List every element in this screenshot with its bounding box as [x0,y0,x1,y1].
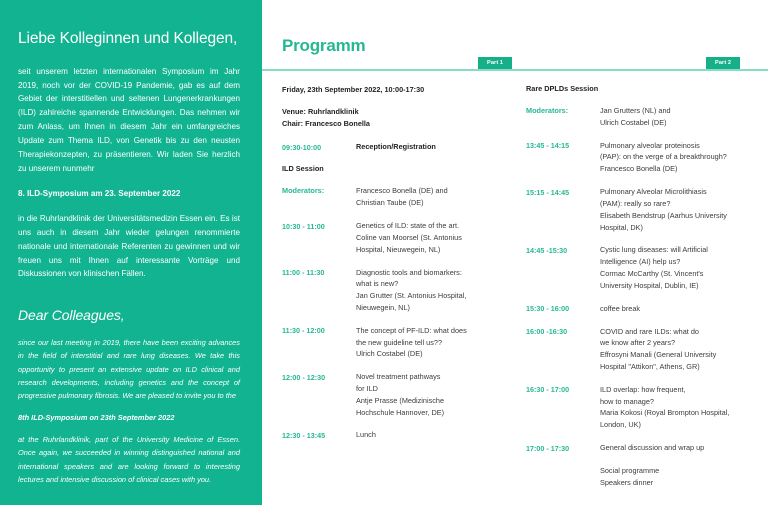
schedule-row: 10:30 - 11:00Genetics of ILD: state of t… [282,220,508,255]
moderators-row-part1: Moderators: Francesco Bonella (DE) and C… [282,185,508,209]
row-time [526,465,600,489]
session-title-ild: ILD Session [282,164,508,173]
row-description: COVID and rare ILDs: what do we know aft… [600,326,756,373]
event-date: Friday, 23th September 2022, 10:00-17:30 [282,84,508,96]
schedule-row: 12:30 - 13:45Lunch [282,429,508,441]
moderators-label: Moderators: [526,105,600,129]
schedule-list-part1: 10:30 - 11:00Genetics of ILD: state of t… [282,220,508,441]
schedule-row: 11:30 - 12:00The concept of PF-ILD: what… [282,325,508,360]
schedule-row: 13:45 - 14:15Pulmonary alveolar proteino… [526,140,756,175]
row-time: 16:00 -16:30 [526,326,600,373]
row-time: 10:30 - 11:00 [282,220,356,255]
row-description: Diagnostic tools and biomarkers: what is… [356,267,508,314]
paragraph-english-1: since our last meeting in 2019, there ha… [18,336,240,402]
invitation-panel: Liebe Kolleginnen und Kollegen, seit uns… [0,0,262,505]
page-title: Programm [282,36,365,56]
moderators-row-part2: Moderators: Jan Grutters (NL) and Ulrich… [526,105,756,129]
schedule-row: Social programme Speakers dinner [526,465,756,489]
moderators-value: Jan Grutters (NL) and Ulrich Costabel (D… [600,105,756,129]
row-time: 11:30 - 12:00 [282,325,356,360]
row-time: 14:45 -15:30 [526,244,600,291]
schedule-row: 16:30 - 17:00ILD overlap: how frequent, … [526,384,756,431]
title-divider [262,69,768,71]
schedule-row: 12:00 - 12:30Novel treatment pathways fo… [282,371,508,418]
schedule-row: 16:00 -16:30COVID and rare ILDs: what do… [526,326,756,373]
badge-part-2: Part 2 [706,57,740,69]
poster-page: Liebe Kolleginnen und Kollegen, seit uns… [0,0,768,505]
paragraph-german-2: in die Ruhrlandklinik der Universitätsme… [18,212,240,282]
program-columns: Friday, 23th September 2022, 10:00-17:30… [262,84,768,500]
row-time: 16:30 - 17:00 [526,384,600,431]
row-description: coffee break [600,303,756,315]
schedule-list-part2: 13:45 - 14:15Pulmonary alveolar proteino… [526,140,756,489]
greeting-english: Dear Colleagues, [18,307,240,323]
symposium-title-english: 8th ILD-Symposium on 23th September 2022 [18,413,240,422]
moderators-value: Francesco Bonella (DE) and Christian Tau… [356,185,508,209]
row-description: ILD overlap: how frequent, how to manage… [600,384,756,431]
row-time: 09:30-10:00 [282,141,356,153]
row-time: 17:00 - 17:30 [526,442,600,454]
program-column-part1: Friday, 23th September 2022, 10:00-17:30… [262,84,520,500]
schedule-row: 15:30 - 16:00coffee break [526,303,756,315]
moderators-label: Moderators: [282,185,356,209]
event-venue-chair: Venue: Ruhrlandklinik Chair: Francesco B… [282,106,508,130]
schedule-row: 14:45 -15:30Cystic lung diseases: will A… [526,244,756,291]
badge-part-1: Part 1 [478,57,512,69]
row-time: 11:00 - 11:30 [282,267,356,314]
row-description: Social programme Speakers dinner [600,465,756,489]
session-title-rare-dplds: Rare DPLDs Session [526,84,756,93]
program-panel: Programm Part 1 Part 2 Friday, 23th Sept… [262,0,768,505]
row-time: 13:45 - 14:15 [526,140,600,175]
schedule-row: 11:00 - 11:30Diagnostic tools and biomar… [282,267,508,314]
row-description: Genetics of ILD: state of the art. Colin… [356,220,508,255]
venue-line: Venue: Ruhrlandklinik [282,107,359,116]
row-description: Novel treatment pathways for ILD Antje P… [356,371,508,418]
symposium-title-german: 8. ILD-Symposium am 23. September 2022 [18,188,240,201]
row-time: 12:30 - 13:45 [282,429,356,441]
row-description: General discussion and wrap up [600,442,756,454]
paragraph-german-1: seit unserem letzten internationalen Sym… [18,65,240,176]
row-time: 15:15 - 14:45 [526,186,600,233]
greeting-german: Liebe Kolleginnen und Kollegen, [18,30,240,49]
paragraph-english-2: at the Ruhrlandklinik, part of the Unive… [18,433,240,486]
row-description: Reception/Registration [356,141,508,153]
row-time: 15:30 - 16:00 [526,303,600,315]
schedule-row-registration: 09:30-10:00 Reception/Registration [282,141,508,153]
schedule-row: 17:00 - 17:30General discussion and wrap… [526,442,756,454]
row-description: Cystic lung diseases: will Artificial In… [600,244,756,291]
program-column-part2: Rare DPLDs Session Moderators: Jan Grutt… [520,84,768,500]
schedule-row: 15:15 - 14:45Pulmonary Alveolar Microlit… [526,186,756,233]
row-description: Lunch [356,429,508,441]
row-description: The concept of PF-ILD: what does the new… [356,325,508,360]
row-description: Pulmonary Alveolar Microlithiasis (PAM):… [600,186,756,233]
row-time: 12:00 - 12:30 [282,371,356,418]
row-description: Pulmonary alveolar proteinosis (PAP): on… [600,140,756,175]
chair-line: Chair: Francesco Bonella [282,119,370,128]
